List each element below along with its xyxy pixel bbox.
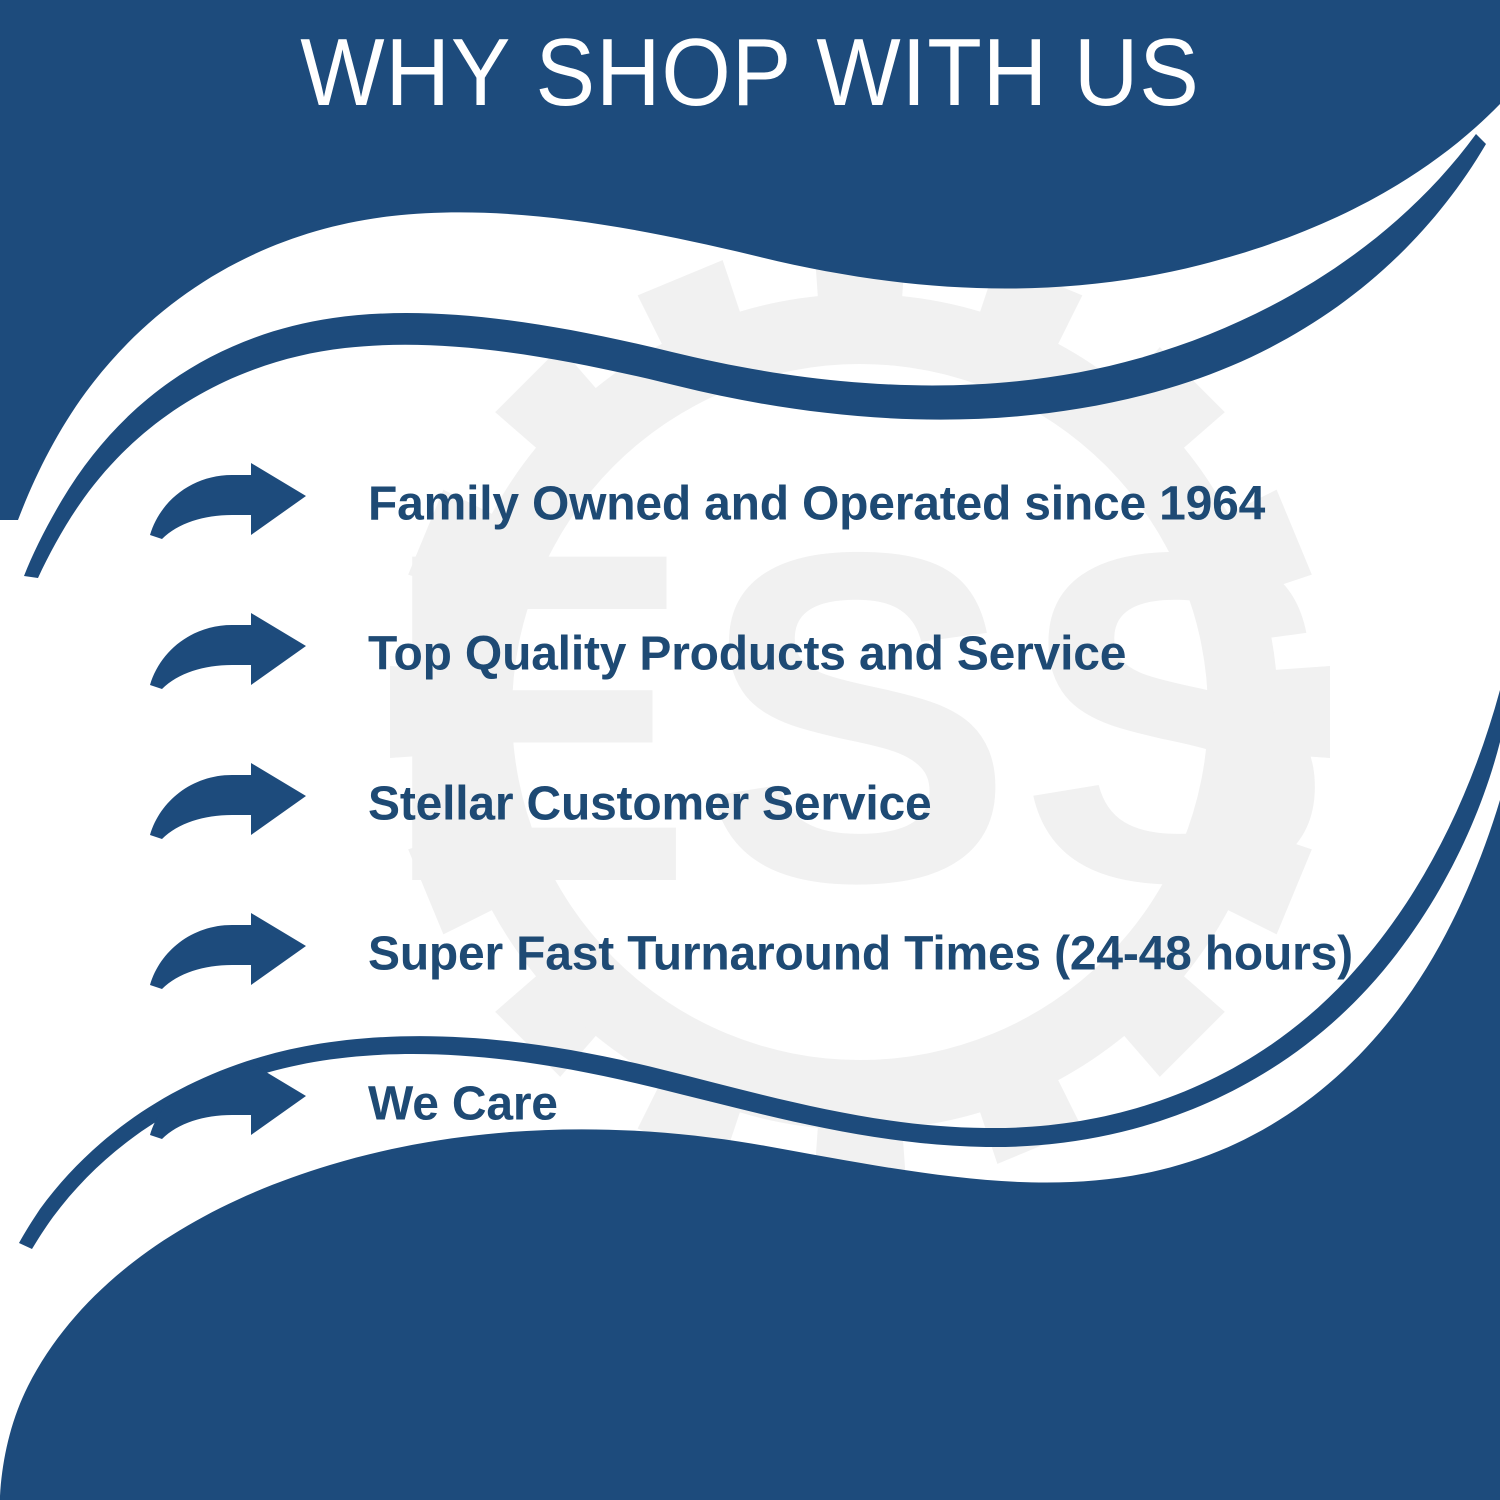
page-title: WHY SHOP WITH US	[53, 22, 1448, 124]
list-item: Family Owned and Operated since 1964	[0, 430, 1500, 580]
list-item: Top Quality Products and Service	[0, 580, 1500, 730]
curved-arrow-right-icon	[148, 463, 308, 547]
list-item: We Care	[0, 1030, 1500, 1180]
list-item-label: We Care	[368, 1079, 558, 1132]
list-item-label: Super Fast Turnaround Times (24-48 hours…	[368, 929, 1353, 982]
curved-arrow-right-icon	[148, 763, 308, 847]
list-item: Super Fast Turnaround Times (24-48 hours…	[0, 880, 1500, 1030]
list-item-label: Top Quality Products and Service	[368, 629, 1126, 682]
list-item-label: Stellar Customer Service	[368, 779, 931, 832]
list-item-label: Family Owned and Operated since 1964	[368, 479, 1265, 532]
curved-arrow-right-icon	[148, 913, 308, 997]
why-shop-with-us-poster: ESS WHY SHOP WITH US Family Owned and Op…	[0, 0, 1500, 1500]
curved-arrow-right-icon	[148, 613, 308, 697]
list-item: Stellar Customer Service	[0, 730, 1500, 880]
curved-arrow-right-icon	[148, 1063, 308, 1147]
content-layer: WHY SHOP WITH US Family Owned and Operat…	[0, 0, 1500, 1500]
benefit-list: Family Owned and Operated since 1964 Top…	[0, 430, 1500, 1180]
